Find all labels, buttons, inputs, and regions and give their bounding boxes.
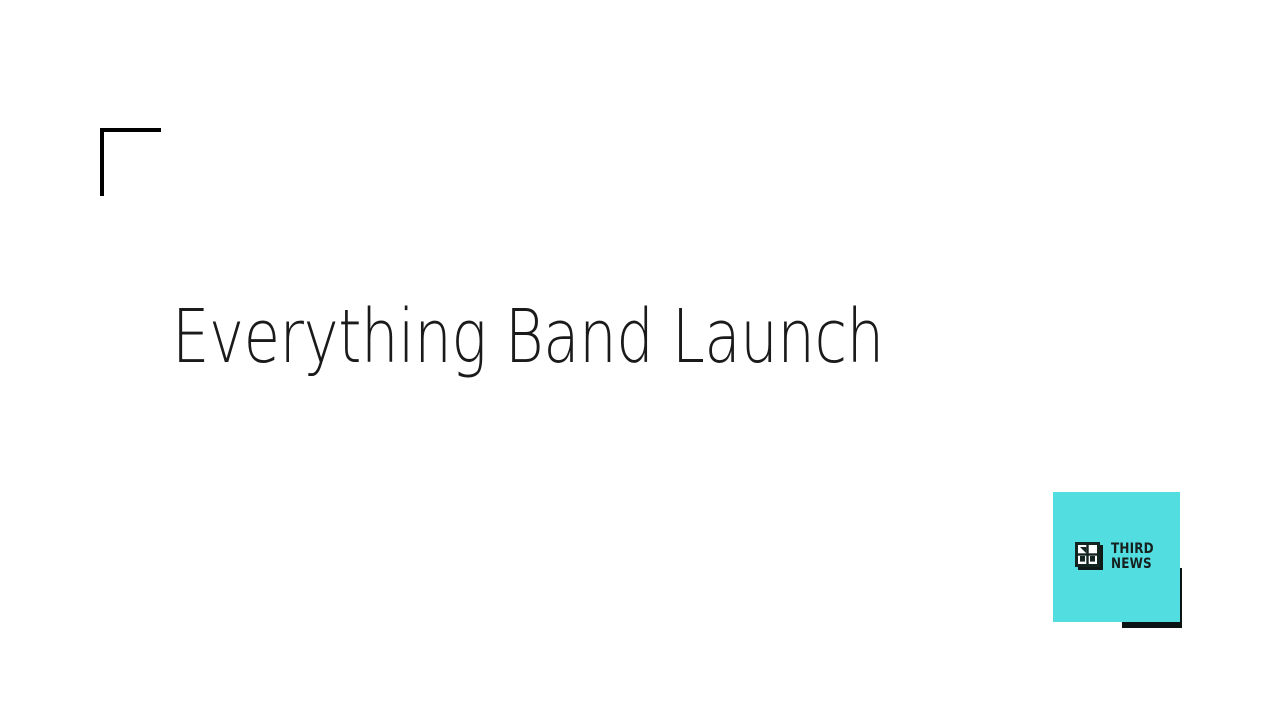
logo-content: THIRD NEWS (1053, 492, 1180, 622)
presentation-slide: Everything Band Launch THIRD N (0, 0, 1280, 720)
slide-title: Everything Band Launch (172, 300, 924, 374)
corner-bracket-decoration (100, 128, 161, 196)
logo-wordmark-line-1: THIRD (1111, 542, 1154, 557)
logo-wordmark: THIRD NEWS (1111, 542, 1158, 572)
logo-wordmark-line-2: NEWS (1111, 557, 1154, 572)
logo-lockup: THIRD NEWS (1053, 492, 1182, 628)
newspaper-window-icon (1075, 542, 1105, 572)
